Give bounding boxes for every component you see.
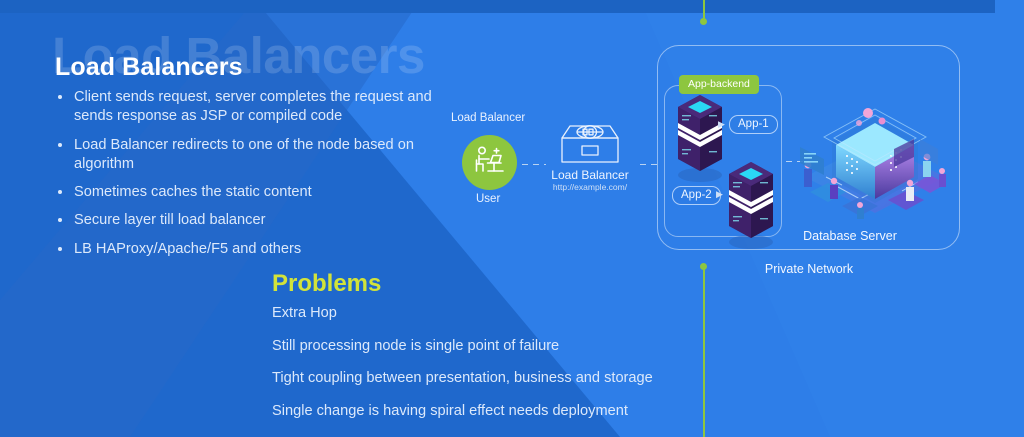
bullet-dot-icon: [58, 247, 62, 251]
list-item: Single change is having spiral effect ne…: [272, 404, 702, 419]
top-bar: [0, 0, 995, 13]
connector-dot-top: [700, 18, 707, 25]
bullet-dot-icon: [58, 95, 62, 99]
connector-line-bottom: [703, 268, 705, 437]
load-balancer-icon: [552, 120, 628, 173]
connector-line-top: [703, 0, 705, 20]
list-item-label: LB HAProxy/Apache/F5 and others: [74, 241, 301, 257]
database-server-illustration: [790, 95, 960, 230]
list-item: Tight coupling between presentation, bus…: [272, 371, 702, 386]
load-balancer-name: Load Balancer: [545, 168, 635, 182]
list-item: Still processing node is single point of…: [272, 339, 702, 354]
bullet-dot-icon: [58, 218, 62, 222]
list-item: Secure layer till load balancer: [52, 211, 452, 230]
database-server-label: Database Server: [760, 229, 940, 243]
list-item: Extra Hop: [272, 306, 702, 321]
list-item: Load Balancer redirects to one of the no…: [52, 136, 452, 175]
bullet-dot-icon: [58, 143, 62, 147]
connector-user-to-lb: [522, 164, 546, 165]
server-rack-app1-icon: [672, 93, 728, 185]
arrow-app1-icon: ▶: [718, 120, 725, 129]
bullet-dot-icon: [58, 190, 62, 194]
app2-chip: App-2: [672, 186, 721, 205]
slide-canvas: Load Balancers Load Balancers Client sen…: [0, 0, 1024, 437]
app-backend-badge: App-backend: [679, 75, 759, 94]
list-item: Client sends request, server completes t…: [52, 88, 452, 127]
problems-heading: Problems: [272, 272, 381, 296]
list-item-label: Load Balancer redirects to one of the no…: [74, 137, 414, 172]
list-item-label: Secure layer till load balancer: [74, 212, 265, 228]
list-item: Sometimes caches the static content: [52, 183, 452, 202]
load-balancer-url: http://example.com/: [543, 182, 637, 192]
list-item: LB HAProxy/Apache/F5 and others: [52, 240, 452, 259]
bullet-list: Client sends request, server completes t…: [52, 88, 452, 268]
problems-list: Extra Hop Still processing node is singl…: [272, 306, 702, 436]
load-balancer-caption: Load Balancer: [451, 112, 525, 124]
app1-chip: App-1: [729, 115, 778, 134]
list-item-label: Client sends request, server completes t…: [74, 89, 432, 124]
user-avatar: [462, 135, 517, 190]
user-at-desk-icon: [471, 144, 508, 181]
list-item-label: Sometimes caches the static content: [74, 184, 312, 200]
user-label: User: [476, 193, 500, 205]
private-network-label: Private Network: [659, 262, 959, 276]
page-title: Load Balancers: [55, 55, 243, 80]
arrow-app2-icon: ▶: [716, 190, 723, 199]
